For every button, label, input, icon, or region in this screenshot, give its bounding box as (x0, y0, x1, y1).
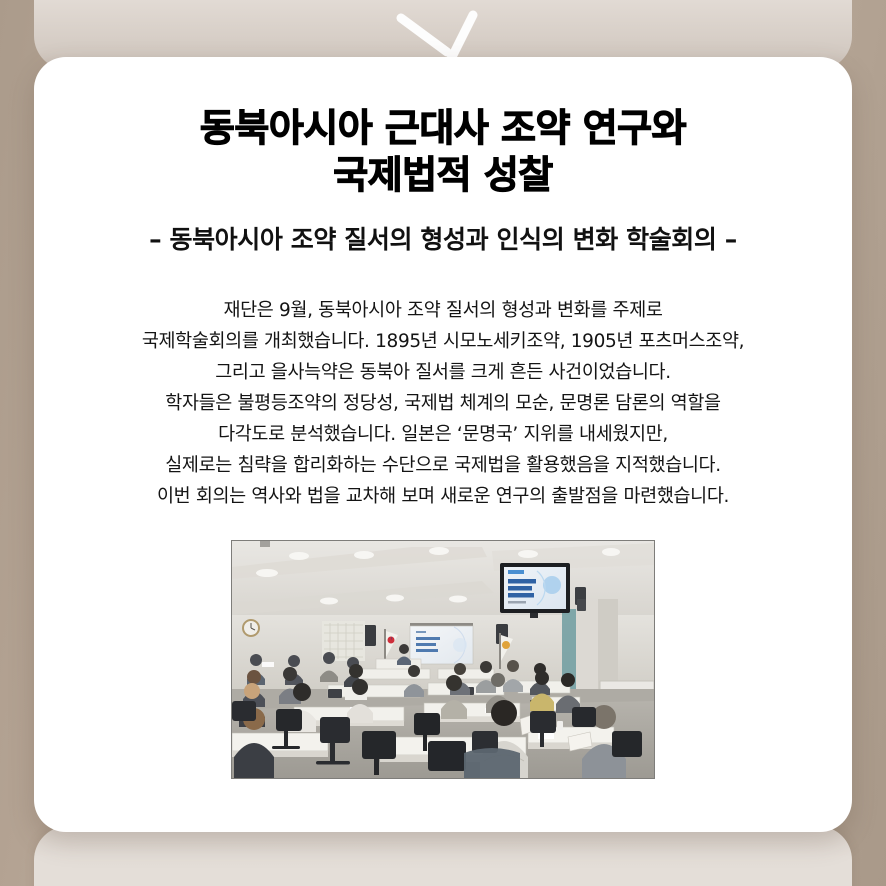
content-card: 동북아시아 근대사 조약 연구와 국제법적 성찰 – 동북아시아 조약 질서의 … (34, 57, 852, 832)
event-photo (231, 540, 655, 779)
body-line: 재단은 9월, 동북아시아 조약 질서의 형성과 변화를 주제로 (62, 295, 824, 326)
body-line: 국제학술회의를 개최했습니다. 1895년 시모노세키조약, 1905년 포츠머… (62, 326, 824, 357)
event-photo-image (231, 540, 655, 779)
page-subtitle: – 동북아시아 조약 질서의 형성과 인식의 변화 학술회의 – (62, 225, 824, 255)
body-paragraph: 재단은 9월, 동북아시아 조약 질서의 형성과 변화를 주제로 국제학술회의를… (62, 295, 824, 512)
body-line: 학자들은 불평등조약의 정당성, 국제법 체계의 모순, 문명론 담론의 역할을 (62, 388, 824, 419)
back-card-bottom (34, 826, 852, 886)
page-title-line-2: 국제법적 성찰 (62, 152, 824, 199)
poster-stage: 동북아시아 근대사 조약 연구와 국제법적 성찰 – 동북아시아 조약 질서의 … (0, 0, 886, 886)
page-title-line-1: 동북아시아 근대사 조약 연구와 (62, 105, 824, 152)
body-line: 실제로는 침략을 합리화하는 수단으로 국제법을 활용했음을 지적했습니다. (62, 450, 824, 481)
page-title: 동북아시아 근대사 조약 연구와 국제법적 성찰 (62, 105, 824, 199)
body-line: 이번 회의는 역사와 법을 교차해 보며 새로운 연구의 출발점을 마련했습니다… (62, 481, 824, 512)
body-line: 다각도로 분석했습니다. 일본은 ‘문명국’ 지위를 내세웠지만, (62, 419, 824, 450)
body-line: 그리고 을사늑약은 동북아 질서를 크게 흔든 사건이었습니다. (62, 357, 824, 388)
card-inner: 동북아시아 근대사 조약 연구와 국제법적 성찰 – 동북아시아 조약 질서의 … (34, 57, 852, 779)
